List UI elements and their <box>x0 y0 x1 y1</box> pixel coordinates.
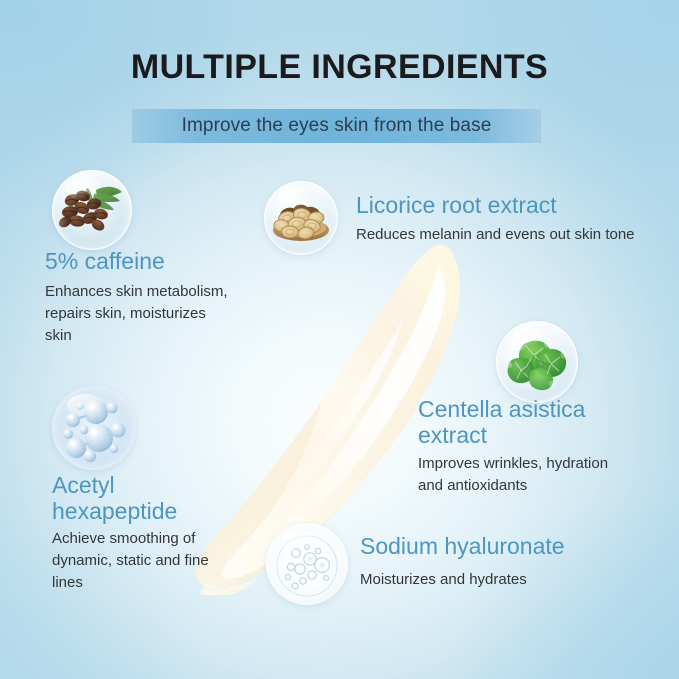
centella-leaves-icon <box>496 321 578 403</box>
ingredient-description-hyaluronate: Moisturizes and hydrates <box>360 569 630 591</box>
ingredient-name-hyaluronate: Sodium hyaluronate <box>360 533 630 559</box>
ingredient-description-licorice: Reduces melanin and evens out skin tone <box>356 224 661 246</box>
ingredient-name-licorice: Licorice root extract <box>356 192 656 218</box>
ingredient-name-acetyl: Acetyl hexapeptide <box>52 472 227 524</box>
ingredient-name-caffeine: 5% caffeine <box>45 248 265 274</box>
subtitle-banner: Improve the eyes skin from the base <box>132 109 541 143</box>
subtitle-text: Improve the eyes skin from the base <box>182 115 492 137</box>
molecule-bubbles-icon <box>52 386 136 470</box>
ingredients-infographic: MULTIPLE INGREDIENTS Improve the eyes sk… <box>0 0 679 679</box>
ingredient-description-acetyl: Achieve smoothing of dynamic, static and… <box>52 528 232 594</box>
coffee-beans-icon <box>52 170 132 250</box>
water-droplets-icon <box>266 523 348 605</box>
ingredient-description-centella: Improves wrinkles, hydration and antioxi… <box>418 453 633 497</box>
page-title: MULTIPLE INGREDIENTS <box>0 48 679 87</box>
ingredient-name-centella: Centella asistica extract <box>418 396 618 448</box>
ingredient-description-caffeine: Enhances skin metabolism, repairs skin, … <box>45 281 230 347</box>
licorice-root-icon <box>264 181 338 255</box>
